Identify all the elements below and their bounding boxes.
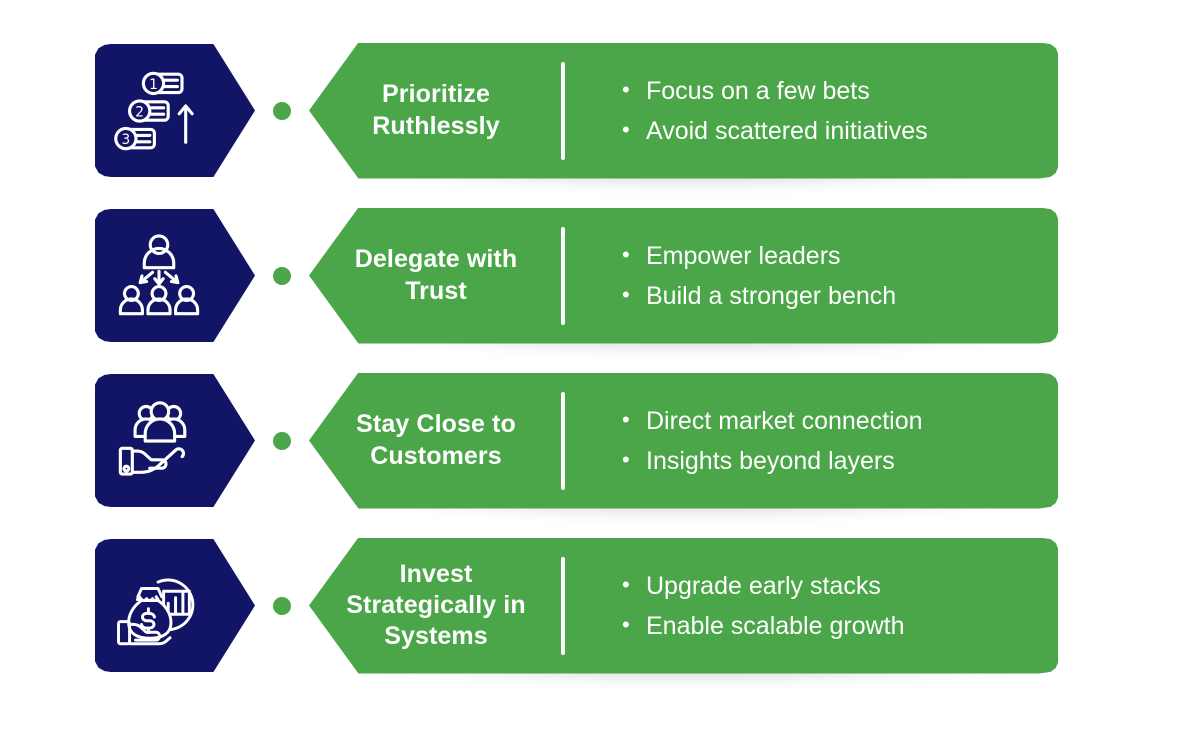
investment-growth-icon bbox=[113, 560, 205, 652]
list-item-label: Avoid scattered initiatives bbox=[646, 115, 1058, 147]
banner-title: Invest Strategically in Systems bbox=[311, 559, 561, 653]
banner-title-line: Delegate with bbox=[321, 244, 551, 275]
banner-title-line: Stay Close to bbox=[321, 409, 551, 440]
bullet-icon: • bbox=[622, 284, 646, 306]
delegation-hierarchy-icon bbox=[113, 230, 205, 322]
bullet-icon: • bbox=[622, 449, 646, 471]
banner-title: Stay Close to Customers bbox=[311, 409, 561, 472]
connector-dot-icon bbox=[273, 102, 291, 120]
infographic-root: 1 2 3 bbox=[0, 0, 1179, 741]
bullet-icon: • bbox=[622, 614, 646, 636]
banner-title-line: Strategically in bbox=[321, 590, 551, 621]
svg-text:1: 1 bbox=[149, 76, 158, 92]
banner-title: Delegate with Trust bbox=[311, 244, 561, 307]
list-item-label: Empower leaders bbox=[646, 240, 1058, 272]
list-item-label: Insights beyond layers bbox=[646, 445, 1058, 477]
connector bbox=[255, 44, 309, 177]
connector-dot-icon bbox=[273, 597, 291, 615]
bullet-icon: • bbox=[622, 574, 646, 596]
list-item-label: Enable scalable growth bbox=[646, 610, 1058, 642]
banner-wrapper: Prioritize Ruthlessly • Focus on a few b… bbox=[309, 43, 1058, 179]
banner-title-line: Trust bbox=[321, 276, 551, 307]
banner-title-line: Systems bbox=[321, 621, 551, 652]
list-item-label: Upgrade early stacks bbox=[646, 570, 1058, 602]
banner-wrapper: Delegate with Trust • Empower leaders • … bbox=[309, 208, 1058, 344]
bullet-icon: • bbox=[622, 409, 646, 431]
content-banner: Invest Strategically in Systems • Upgrad… bbox=[309, 538, 1058, 674]
banner-wrapper: Stay Close to Customers • Direct market … bbox=[309, 373, 1058, 509]
svg-text:3: 3 bbox=[121, 132, 130, 148]
list-item: • Direct market connection bbox=[622, 405, 1058, 437]
banner-points-list: • Empower leaders • Build a stronger ben… bbox=[565, 240, 1058, 312]
list-item: • Insights beyond layers bbox=[622, 445, 1058, 477]
icon-tile bbox=[95, 539, 255, 672]
list-item-label: Build a stronger bench bbox=[646, 280, 1058, 312]
connector bbox=[255, 209, 309, 342]
svg-text:2: 2 bbox=[135, 104, 144, 120]
content-banner: Prioritize Ruthlessly • Focus on a few b… bbox=[309, 43, 1058, 179]
banner-points-list: • Upgrade early stacks • Enable scalable… bbox=[565, 570, 1058, 642]
content-banner: Delegate with Trust • Empower leaders • … bbox=[309, 208, 1058, 344]
connector bbox=[255, 374, 309, 507]
infographic-row: Delegate with Trust • Empower leaders • … bbox=[0, 209, 1179, 342]
bullet-icon: • bbox=[622, 119, 646, 141]
infographic-row: Stay Close to Customers • Direct market … bbox=[0, 374, 1179, 507]
list-item: • Upgrade early stacks bbox=[622, 570, 1058, 602]
icon-tile bbox=[95, 374, 255, 507]
list-item-label: Direct market connection bbox=[646, 405, 1058, 437]
connector-dot-icon bbox=[273, 267, 291, 285]
bullet-icon: • bbox=[622, 244, 646, 266]
list-item: • Empower leaders bbox=[622, 240, 1058, 272]
hand-holding-customers-icon bbox=[113, 395, 205, 487]
banner-points-list: • Direct market connection • Insights be… bbox=[565, 405, 1058, 477]
banner-title-line: Prioritize bbox=[321, 79, 551, 110]
connector bbox=[255, 539, 309, 672]
list-item-label: Focus on a few bets bbox=[646, 75, 1058, 107]
bullet-icon: • bbox=[622, 79, 646, 101]
banner-title: Prioritize Ruthlessly bbox=[311, 79, 561, 142]
banner-title-line: Customers bbox=[321, 441, 551, 472]
list-item: • Focus on a few bets bbox=[622, 75, 1058, 107]
icon-tile: 1 2 3 bbox=[95, 44, 255, 177]
banner-wrapper: Invest Strategically in Systems • Upgrad… bbox=[309, 538, 1058, 674]
content-banner: Stay Close to Customers • Direct market … bbox=[309, 373, 1058, 509]
banner-title-line: Invest bbox=[321, 559, 551, 590]
banner-points-list: • Focus on a few bets • Avoid scattered … bbox=[565, 75, 1058, 147]
priority-list-icon: 1 2 3 bbox=[113, 65, 205, 157]
list-item: • Enable scalable growth bbox=[622, 610, 1058, 642]
banner-title-line: Ruthlessly bbox=[321, 111, 551, 142]
connector-dot-icon bbox=[273, 432, 291, 450]
icon-tile bbox=[95, 209, 255, 342]
list-item: • Avoid scattered initiatives bbox=[622, 115, 1058, 147]
list-item: • Build a stronger bench bbox=[622, 280, 1058, 312]
infographic-row: 1 2 3 bbox=[0, 44, 1179, 177]
infographic-row: Invest Strategically in Systems • Upgrad… bbox=[0, 539, 1179, 672]
